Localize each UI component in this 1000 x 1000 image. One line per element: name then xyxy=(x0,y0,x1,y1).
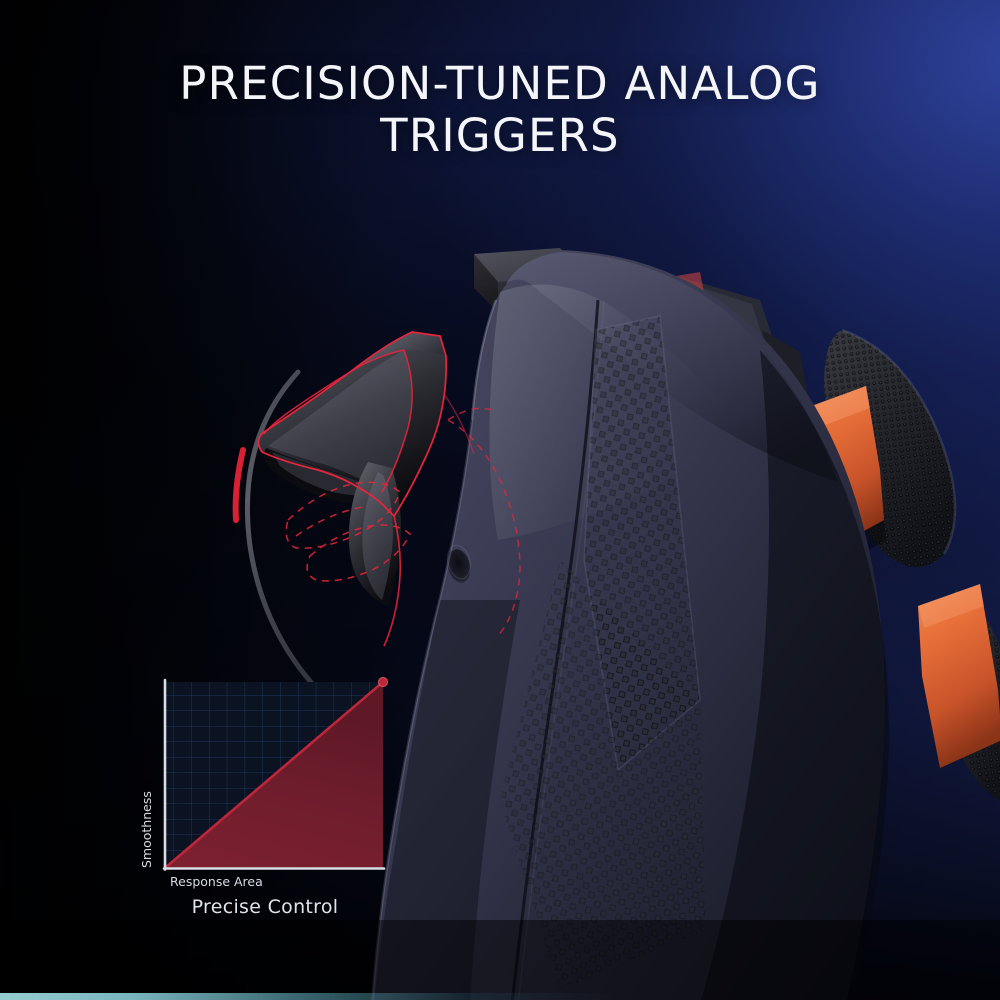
controller-body xyxy=(372,250,889,1000)
chart-y-axis-label: Smoothness xyxy=(139,791,154,868)
orange-bumper-lower xyxy=(918,584,1000,768)
bottom-accent-strip xyxy=(0,993,620,1000)
chart-x-axis-label: Response Area xyxy=(170,874,263,889)
arc-highlight-segment xyxy=(236,450,243,520)
response-chart: Smoothness Response Area Precise Control xyxy=(120,664,410,932)
hero-banner: PRECISION-TUNED ANALOG TRIGGERS xyxy=(0,0,1000,1000)
chart-caption: Precise Control xyxy=(120,896,410,918)
